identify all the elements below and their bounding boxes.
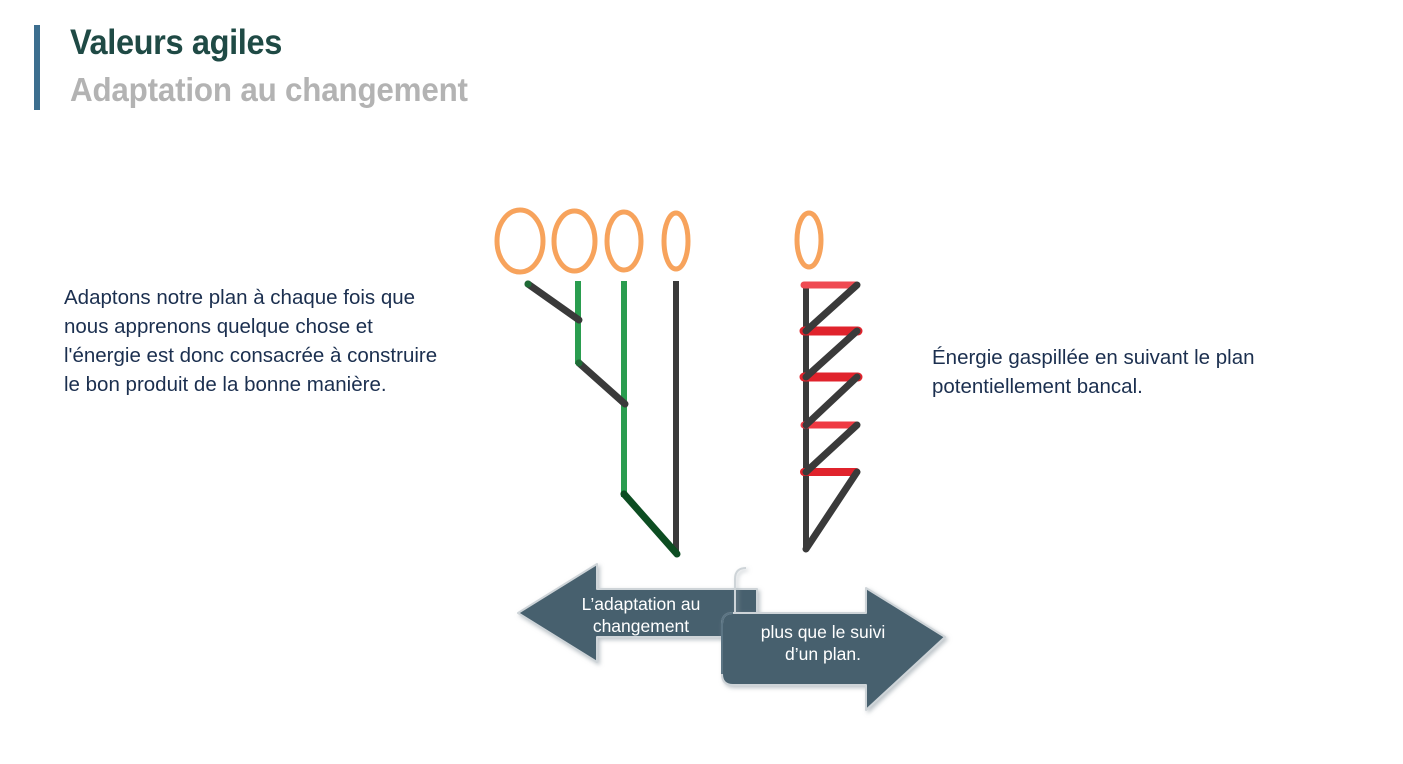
right-arrow-label-line1: plus que le suivi [761, 622, 886, 642]
left-arrow-label-line2: changement [593, 616, 689, 636]
rework-diagonal-3 [806, 377, 857, 425]
adaptation-step-1 [528, 284, 579, 320]
adaptation-node-2 [576, 360, 583, 367]
uncertainty-ellipse-4 [664, 213, 688, 269]
adaptation-step-3 [624, 494, 677, 554]
rigid-plan-group [797, 213, 858, 550]
right-arrow-label-line2: d’un plan. [785, 644, 861, 664]
rework-diagonal-2 [806, 331, 857, 377]
adaptation-node-3 [621, 491, 628, 498]
left-arrow-label-line1: L’adaptation au [582, 594, 701, 614]
left-description-text: Adaptons notre plan à chaque fois que no… [64, 283, 449, 399]
uncertainty-ellipse-1 [497, 210, 543, 272]
page-title: Valeurs agiles [70, 23, 282, 63]
uncertainty-ellipse-2 [554, 211, 595, 271]
left-arrow-label: L’adaptation au changement [582, 594, 701, 636]
uncertainty-ellipse-right [797, 213, 821, 267]
title-accent-bar [34, 25, 40, 110]
right-description-text: Énergie gaspillée en suivant le plan pot… [932, 343, 1352, 401]
rework-diagonal-5 [806, 472, 857, 549]
adaptation-step-2 [579, 363, 625, 404]
rework-diagonal-1 [806, 285, 857, 331]
rework-diagonal-4 [806, 425, 857, 472]
right-arrow-shape [722, 568, 945, 710]
uncertainty-ellipse-3 [607, 212, 641, 270]
adaptation-node-1 [525, 281, 532, 288]
right-arrow-label: plus que le suivi d’un plan. [761, 622, 886, 664]
left-arrow-shape [518, 564, 757, 662]
adaptive-plan-group [497, 210, 688, 554]
header: Valeurs agiles Adaptation au changement [0, 0, 1403, 130]
page-subtitle: Adaptation au changement [70, 71, 468, 109]
uncertainty-ellipses-left [497, 210, 688, 272]
